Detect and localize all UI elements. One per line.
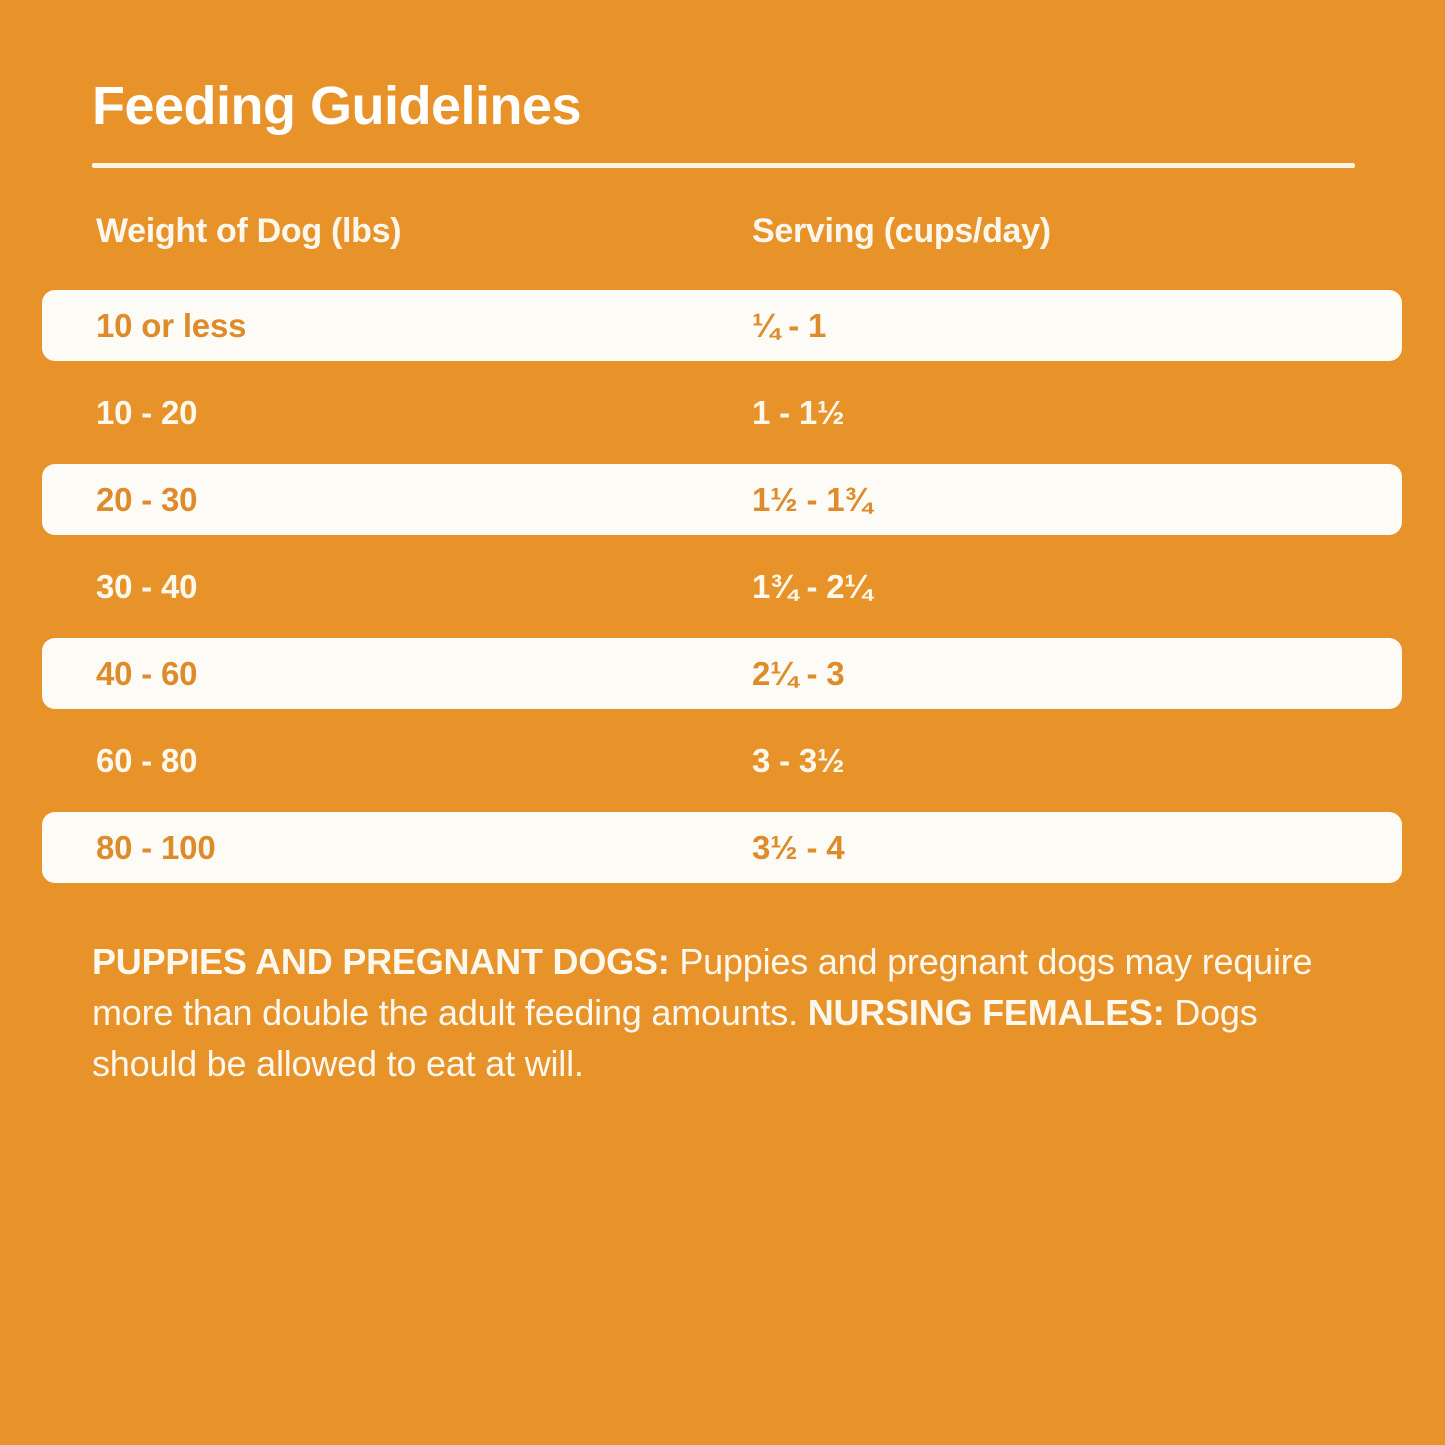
cell-weight: 40 - 60 <box>96 655 197 693</box>
cell-weight: 30 - 40 <box>96 568 197 606</box>
cell-weight: 10 or less <box>96 307 246 345</box>
column-header-serving: Serving (cups/day) <box>752 212 1051 251</box>
cell-serving: 1 - 1½ <box>752 394 844 432</box>
table-row: 20 - 30 1½ - 1¾ <box>42 464 1402 535</box>
cell-weight: 60 - 80 <box>96 742 197 780</box>
footnote-label-nursing: NURSING FEMALES: <box>808 992 1165 1033</box>
cell-weight: 10 - 20 <box>96 394 197 432</box>
table-row: 40 - 60 2¼ - 3 <box>42 638 1402 709</box>
cell-weight: 80 - 100 <box>96 829 216 867</box>
cell-serving: ¼ - 1 <box>752 307 826 345</box>
feeding-guidelines-panel: Feeding Guidelines Weight of Dog (lbs) S… <box>0 0 1445 1445</box>
page-title: Feeding Guidelines <box>92 78 581 135</box>
cell-serving: 3 - 3½ <box>752 742 844 780</box>
table-row: 80 - 100 3½ - 4 <box>42 812 1402 883</box>
column-header-weight: Weight of Dog (lbs) <box>96 212 401 251</box>
table-row: 30 - 40 1¾ - 2¼ <box>42 551 1402 622</box>
cell-serving: 2¼ - 3 <box>752 655 844 693</box>
table-row: 60 - 80 3 - 3½ <box>42 725 1402 796</box>
feeding-table: 10 or less ¼ - 1 10 - 20 1 - 1½ 20 - 30 … <box>0 290 1445 899</box>
title-divider <box>92 163 1355 168</box>
cell-serving: 1¾ - 2¼ <box>752 568 872 606</box>
feeding-footnote: PUPPIES AND PREGNANT DOGS: Puppies and p… <box>92 936 1360 1089</box>
cell-serving: 1½ - 1¾ <box>752 481 872 519</box>
cell-serving: 3½ - 4 <box>752 829 844 867</box>
table-row: 10 - 20 1 - 1½ <box>42 377 1402 448</box>
footnote-label-puppies: PUPPIES AND PREGNANT DOGS: <box>92 941 670 982</box>
table-row: 10 or less ¼ - 1 <box>42 290 1402 361</box>
table-column-headers: Weight of Dog (lbs) Serving (cups/day) <box>0 212 1445 262</box>
cell-weight: 20 - 30 <box>96 481 197 519</box>
